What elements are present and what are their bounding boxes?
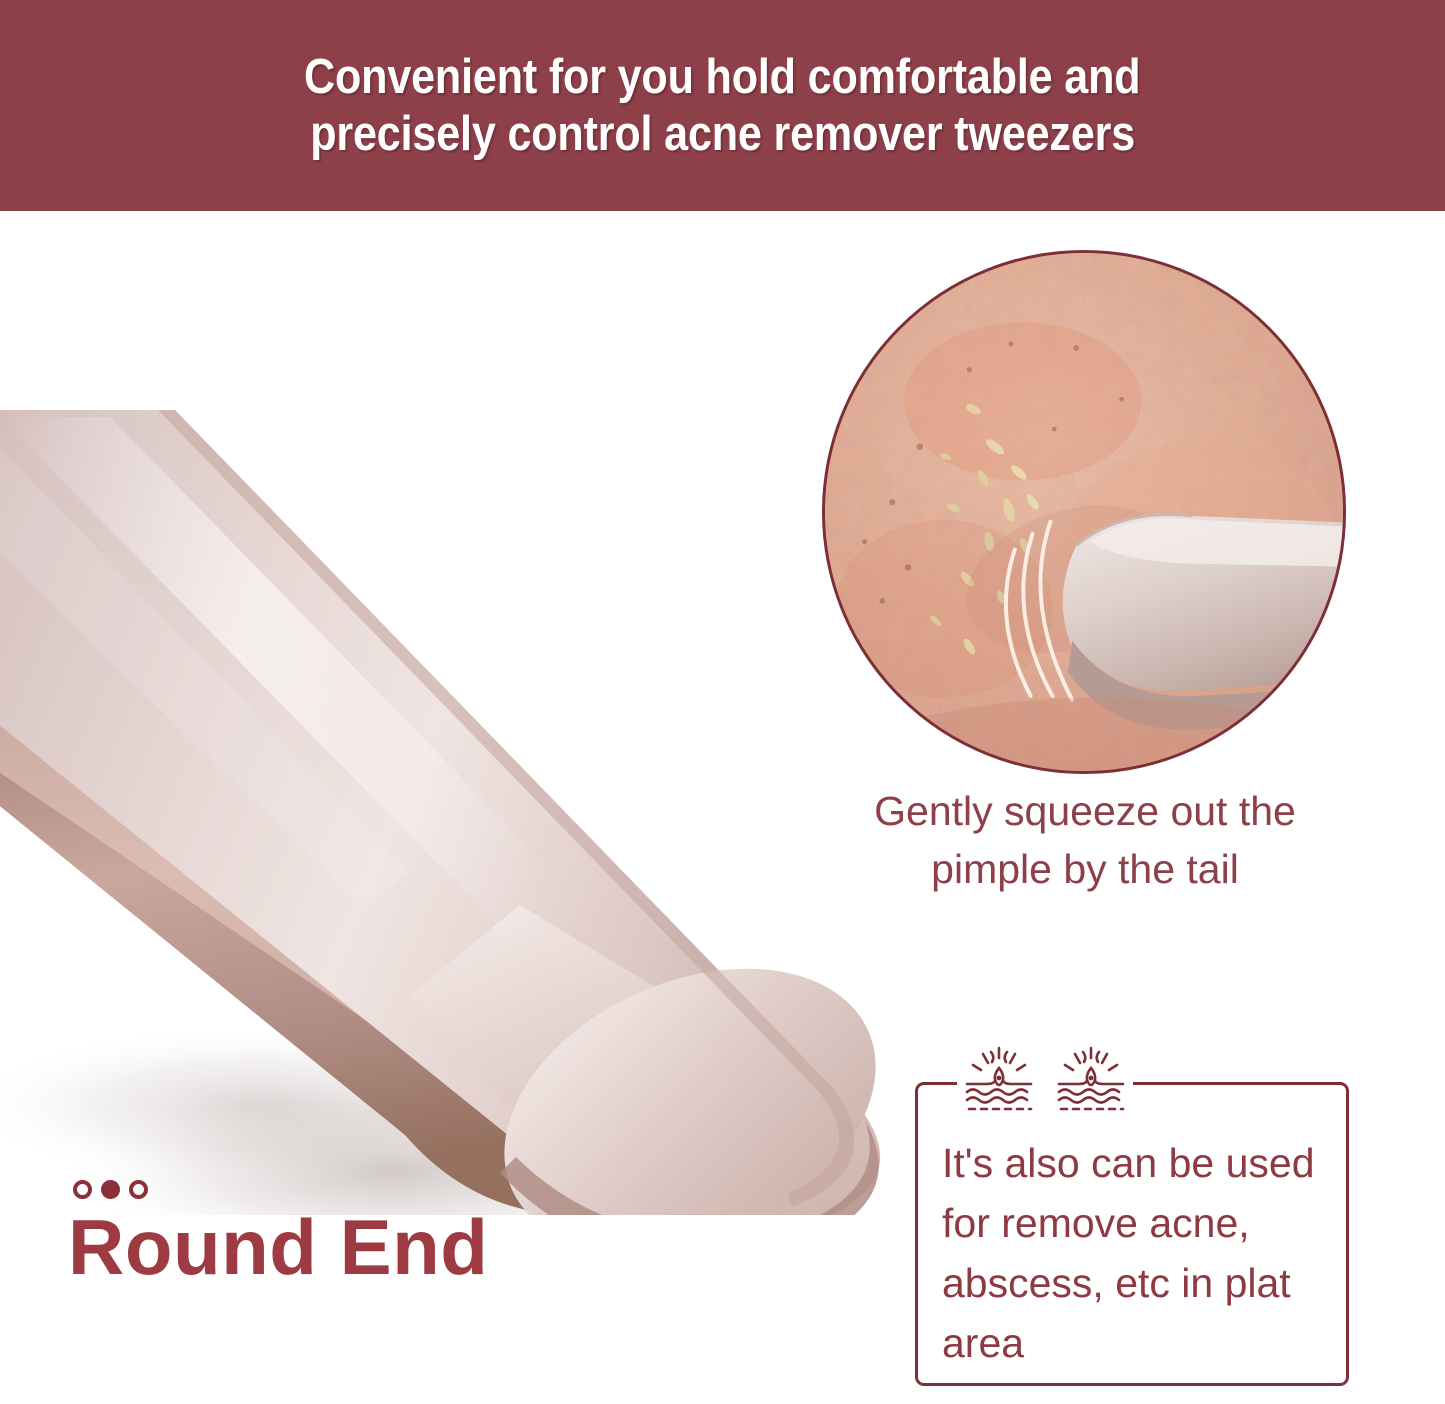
dot-hollow-right	[129, 1180, 148, 1199]
skin-closeup-inset	[822, 250, 1346, 774]
usage-info-box: It's also can be used for remove acne, a…	[915, 1082, 1349, 1386]
round-end-label-block: Round End	[68, 1180, 488, 1286]
header-headline-line-1: Convenient for you hold comfortable and	[304, 49, 1140, 106]
info-text-line-3: abscess, etc in plat	[942, 1254, 1338, 1314]
dot-solid-center	[101, 1180, 120, 1199]
info-text-line-2: for remove acne,	[942, 1194, 1338, 1254]
acne-skin-layer-icon	[1053, 1044, 1129, 1116]
inset-caption: Gently squeeze out the pimple by the tai…	[810, 782, 1360, 898]
inset-caption-line-2: pimple by the tail	[810, 840, 1360, 898]
info-text-line-4: area	[942, 1314, 1338, 1374]
header-headline-line-2: precisely control acne remover tweezers	[310, 106, 1135, 163]
header-banner: Convenient for you hold comfortable and …	[0, 0, 1445, 211]
info-text-line-1: It's also can be used	[942, 1134, 1338, 1194]
tweezer-product-image	[0, 205, 920, 1215]
usage-info-text: It's also can be used for remove acne, a…	[942, 1134, 1338, 1373]
acne-skin-layer-icon	[961, 1044, 1037, 1116]
inset-caption-line-1: Gently squeeze out the	[810, 782, 1360, 840]
round-end-title: Round End	[68, 1208, 488, 1286]
dot-hollow-left	[73, 1180, 92, 1199]
product-infographic: Convenient for you hold comfortable and …	[0, 0, 1445, 1404]
decorative-dot-row	[73, 1180, 488, 1199]
info-box-icon-group	[961, 1044, 1131, 1116]
